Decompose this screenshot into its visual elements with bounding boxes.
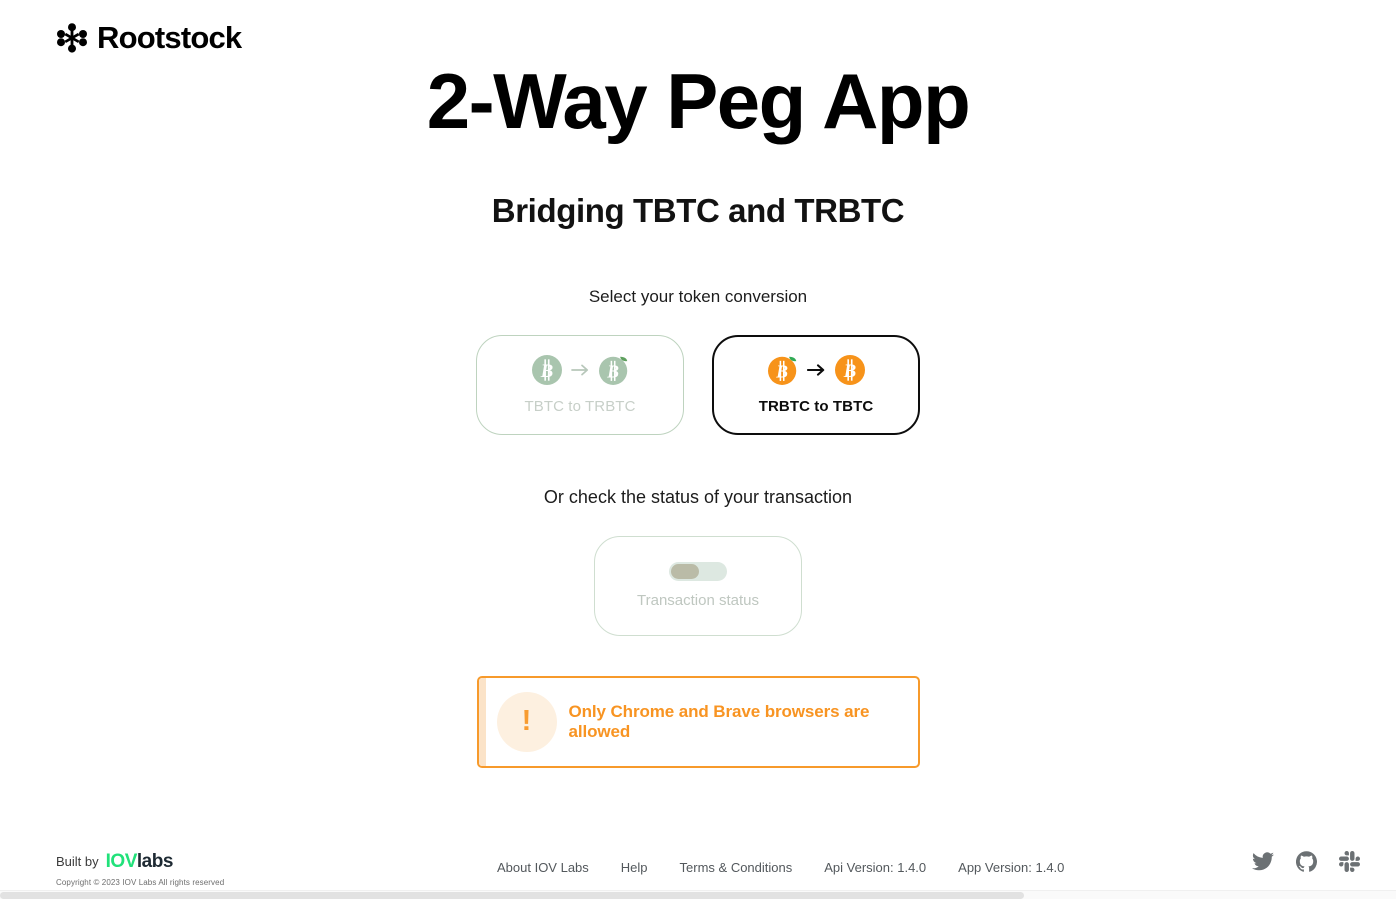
slack-icon[interactable] xyxy=(1339,851,1360,877)
built-by: Built by IOVlabs xyxy=(56,852,224,871)
conversion-option-trbtc-to-tbtc[interactable]: B B xyxy=(712,335,920,435)
horizontal-scrollbar-thumb[interactable] xyxy=(0,892,1024,899)
iovlabs-logo[interactable]: IOVlabs xyxy=(106,852,173,871)
rootstock-bitcoin-icon: B xyxy=(599,355,629,390)
github-icon[interactable] xyxy=(1296,851,1317,877)
conversion-icon-pair: B B xyxy=(532,355,629,390)
iovlabs-logo-part1: IOV xyxy=(106,851,137,872)
svg-text:B: B xyxy=(775,361,788,381)
conversion-icon-pair: B B xyxy=(768,355,865,390)
transaction-status-label: Transaction status xyxy=(637,592,759,609)
terms-and-conditions-link[interactable]: Terms & Conditions xyxy=(680,860,793,875)
svg-text:B: B xyxy=(606,361,619,381)
app-version-text: App Version: 1.4.0 xyxy=(958,860,1064,875)
search-pill-icon xyxy=(669,562,727,581)
svg-text:B: B xyxy=(842,361,856,382)
social-links xyxy=(1252,851,1360,877)
warning-accent-bar xyxy=(479,678,486,766)
horizontal-scrollbar[interactable] xyxy=(0,890,1396,899)
api-version-text: Api Version: 1.4.0 xyxy=(824,860,926,875)
page-footer: Built by IOVlabs Copyright © 2023 IOV La… xyxy=(0,811,1396,899)
bitcoin-icon: B xyxy=(532,355,562,390)
status-section-label: Or check the status of your transaction xyxy=(544,487,852,508)
page-title: 2-Way Peg App xyxy=(427,62,969,142)
about-iov-labs-link[interactable]: About IOV Labs xyxy=(497,860,589,875)
help-link[interactable]: Help xyxy=(621,860,648,875)
rootstock-bitcoin-icon: B xyxy=(768,355,798,390)
arrow-right-icon xyxy=(571,363,590,382)
conversion-section-label: Select your token conversion xyxy=(589,287,807,307)
footer-brand: Built by IOVlabs Copyright © 2023 IOV La… xyxy=(56,852,224,887)
twitter-icon[interactable] xyxy=(1252,852,1274,876)
warning-message: Only Chrome and Brave browsers are allow… xyxy=(569,702,918,742)
copyright-text: Copyright © 2023 IOV Labs All rights res… xyxy=(56,878,224,887)
arrow-right-icon xyxy=(807,363,826,382)
search-pill-knob xyxy=(671,564,699,579)
iovlabs-logo-part2: labs xyxy=(137,851,173,872)
svg-text:B: B xyxy=(539,361,553,382)
conversion-option-label: TBTC to TRBTC xyxy=(524,398,635,415)
page-subtitle: Bridging TBTC and TRBTC xyxy=(492,192,904,230)
built-by-label: Built by xyxy=(56,854,99,869)
exclamation-icon: ! xyxy=(497,692,557,752)
browser-warning-banner: ! Only Chrome and Brave browsers are all… xyxy=(477,676,920,768)
conversion-option-tbtc-to-trbtc[interactable]: B B xyxy=(476,335,684,435)
conversion-option-label: TRBTC to TBTC xyxy=(759,398,874,415)
bitcoin-icon: B xyxy=(835,355,865,390)
footer-links: About IOV Labs Help Terms & Conditions A… xyxy=(497,860,1064,875)
conversion-options: B B xyxy=(476,335,920,435)
transaction-status-card[interactable]: Transaction status xyxy=(594,536,802,636)
main-content: 2-Way Peg App Bridging TBTC and TRBTC Se… xyxy=(0,0,1396,768)
